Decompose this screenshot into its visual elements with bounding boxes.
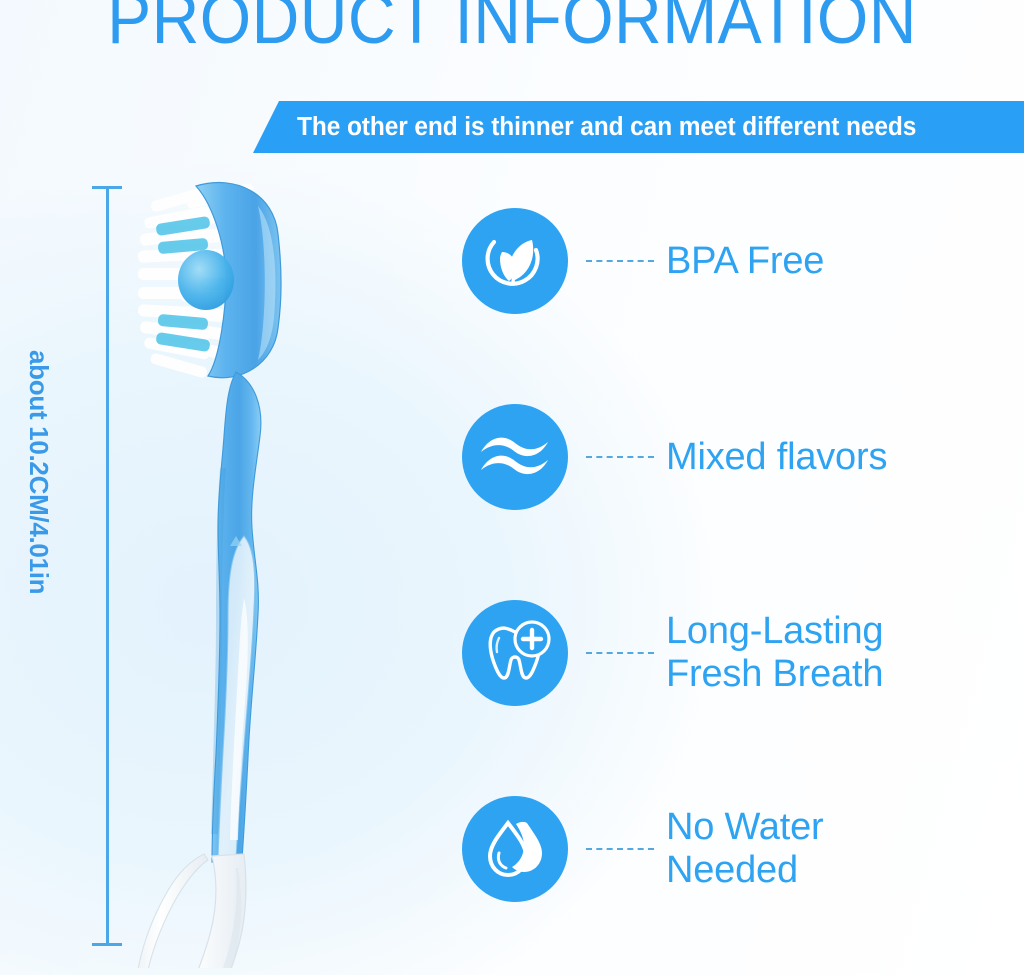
feature-connector (586, 260, 654, 262)
feature-label: BPA Free (666, 240, 824, 283)
feature-connector (586, 652, 654, 654)
feature-connector (586, 456, 654, 458)
feature-label: Long-Lasting Fresh Breath (666, 610, 883, 695)
leaf-eco-icon (462, 208, 568, 314)
subtitle-banner-text: The other end is thinner and can meet di… (297, 113, 916, 142)
feature-label: Mixed flavors (666, 436, 887, 479)
feature-item-mixed-flavors: Mixed flavors (462, 392, 1024, 522)
subtitle-banner: The other end is thinner and can meet di… (253, 101, 1024, 153)
feature-list: BPA Free Mixed flavors (462, 196, 1024, 914)
feature-label: No Water Needed (666, 806, 823, 891)
waves-icon (462, 404, 568, 510)
product-information-poster: PRODUCT INFORMATION The other end is thi… (0, 0, 1024, 975)
water-drops-icon (462, 796, 568, 902)
floss-pick (135, 854, 245, 968)
toothbrush-product-image (108, 168, 308, 968)
dimension-label: about 10.2CM/4.01in (23, 350, 54, 690)
tooth-plus-icon (462, 600, 568, 706)
feature-item-no-water: No Water Needed (462, 784, 1024, 914)
brush-head-dome (178, 250, 234, 310)
page-title: PRODUCT INFORMATION (36, 0, 988, 55)
feature-connector (586, 848, 654, 850)
feature-item-fresh-breath: Long-Lasting Fresh Breath (462, 588, 1024, 718)
feature-item-bpa-free: BPA Free (462, 196, 1024, 326)
